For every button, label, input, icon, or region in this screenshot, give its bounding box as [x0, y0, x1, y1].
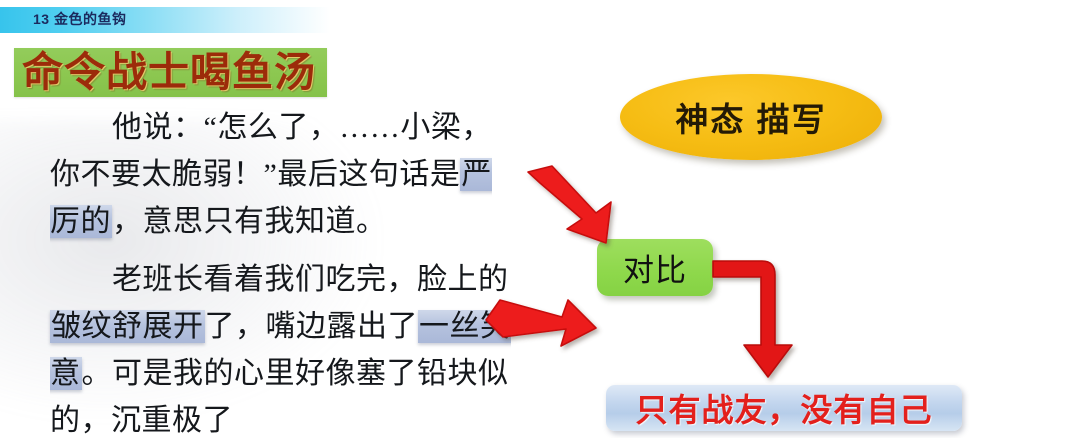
- arrow-compare-to-conclusion-icon: [713, 261, 792, 377]
- slide-title: 命令战士喝鱼汤: [22, 50, 316, 95]
- conclusion-banner: 只有战友，没有自己: [606, 385, 962, 431]
- compare-box: 对比: [597, 239, 713, 296]
- text-run: ，意思只有我知道。: [112, 205, 387, 238]
- text-run: 了，嘴边露出了: [205, 310, 419, 343]
- arrow-top-to-compare-icon: [528, 166, 611, 243]
- body-text-column: 他说：“怎么了，……小梁，你不要太脆弱！”最后这句话是严厉的，意思只有我知道。 …: [50, 104, 520, 438]
- highlight-zhouwenshuzhankai: 皱纹舒展开: [50, 310, 205, 343]
- gold-ellipse-label: 神态 描写: [620, 74, 882, 160]
- text-run: 老班长看着我们吃完，脸上的: [112, 263, 509, 296]
- text-run: 。可是我的心里好像塞了铅块似的，沉重极了: [50, 357, 509, 437]
- paragraph-1: 他说：“怎么了，……小梁，你不要太脆弱！”最后这句话是严厉的，意思只有我知道。: [50, 104, 520, 245]
- text-run: 他说：“怎么了，……小梁，你不要太脆弱！”最后这句话是: [50, 111, 492, 191]
- compare-box-label: 对比: [597, 239, 713, 296]
- conclusion-banner-label: 只有战友，没有自己: [606, 385, 962, 431]
- gold-ellipse-callout: 神态 描写: [620, 74, 882, 160]
- lesson-header-label: 13 金色的鱼钩: [33, 9, 126, 29]
- slide-canvas: 13 金色的鱼钩 命令战士喝鱼汤 他说：“怎么了，……小梁，你不要太脆弱！”最后…: [0, 0, 1080, 438]
- paragraph-2: 老班长看着我们吃完，脸上的皱纹舒展开了，嘴边露出了一丝笑意。可是我的心里好像塞了…: [50, 256, 520, 438]
